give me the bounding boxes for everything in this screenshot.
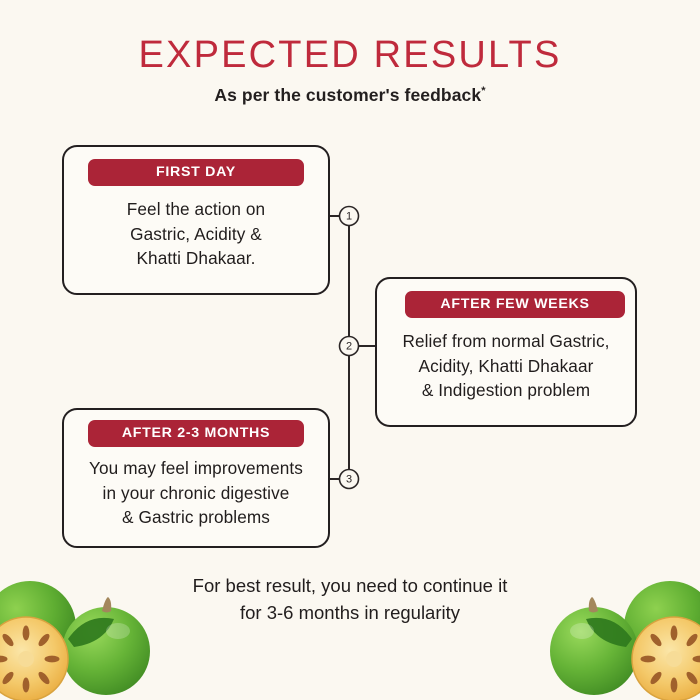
timeline-node-3 [340, 470, 359, 489]
infographic-page: EXPECTED RESULTS As per the customer's f… [0, 0, 700, 700]
page-title: EXPECTED RESULTS [0, 36, 700, 76]
timeline-card-few-weeks: AFTER FEW WEEKS Relief from normal Gastr… [375, 277, 637, 427]
timeline-badge-first-day: FIRST DAY [88, 159, 304, 186]
timeline-node-2-label: 2 [346, 341, 352, 353]
timeline-card-first-day: FIRST DAY Feel the action on Gastric, Ac… [62, 145, 330, 295]
page-subtitle: As per the customer's feedback* [0, 85, 700, 106]
timeline-node-3-label: 3 [346, 474, 352, 486]
timeline-body-months: You may feel improvements in your chroni… [64, 456, 328, 530]
bael-fruit-left-icon [0, 565, 166, 700]
timeline-node-1-label: 1 [346, 211, 352, 223]
footnote-asterisk: * [481, 85, 485, 97]
page-subtitle-text: As per the customer's feedback [214, 85, 481, 105]
timeline-card-months: AFTER 2-3 MONTHS You may feel improvemen… [62, 408, 330, 548]
bael-fruit-right-icon [534, 565, 700, 700]
timeline-body-first-day: Feel the action on Gastric, Acidity & Kh… [64, 197, 328, 271]
header: EXPECTED RESULTS As per the customer's f… [0, 36, 700, 106]
timeline-node-1 [340, 207, 359, 226]
timeline-body-few-weeks: Relief from normal Gastric, Acidity, Kha… [377, 329, 635, 403]
timeline-badge-months: AFTER 2-3 MONTHS [88, 420, 304, 447]
timeline-badge-few-weeks: AFTER FEW WEEKS [405, 291, 625, 318]
timeline-node-2 [340, 337, 359, 356]
